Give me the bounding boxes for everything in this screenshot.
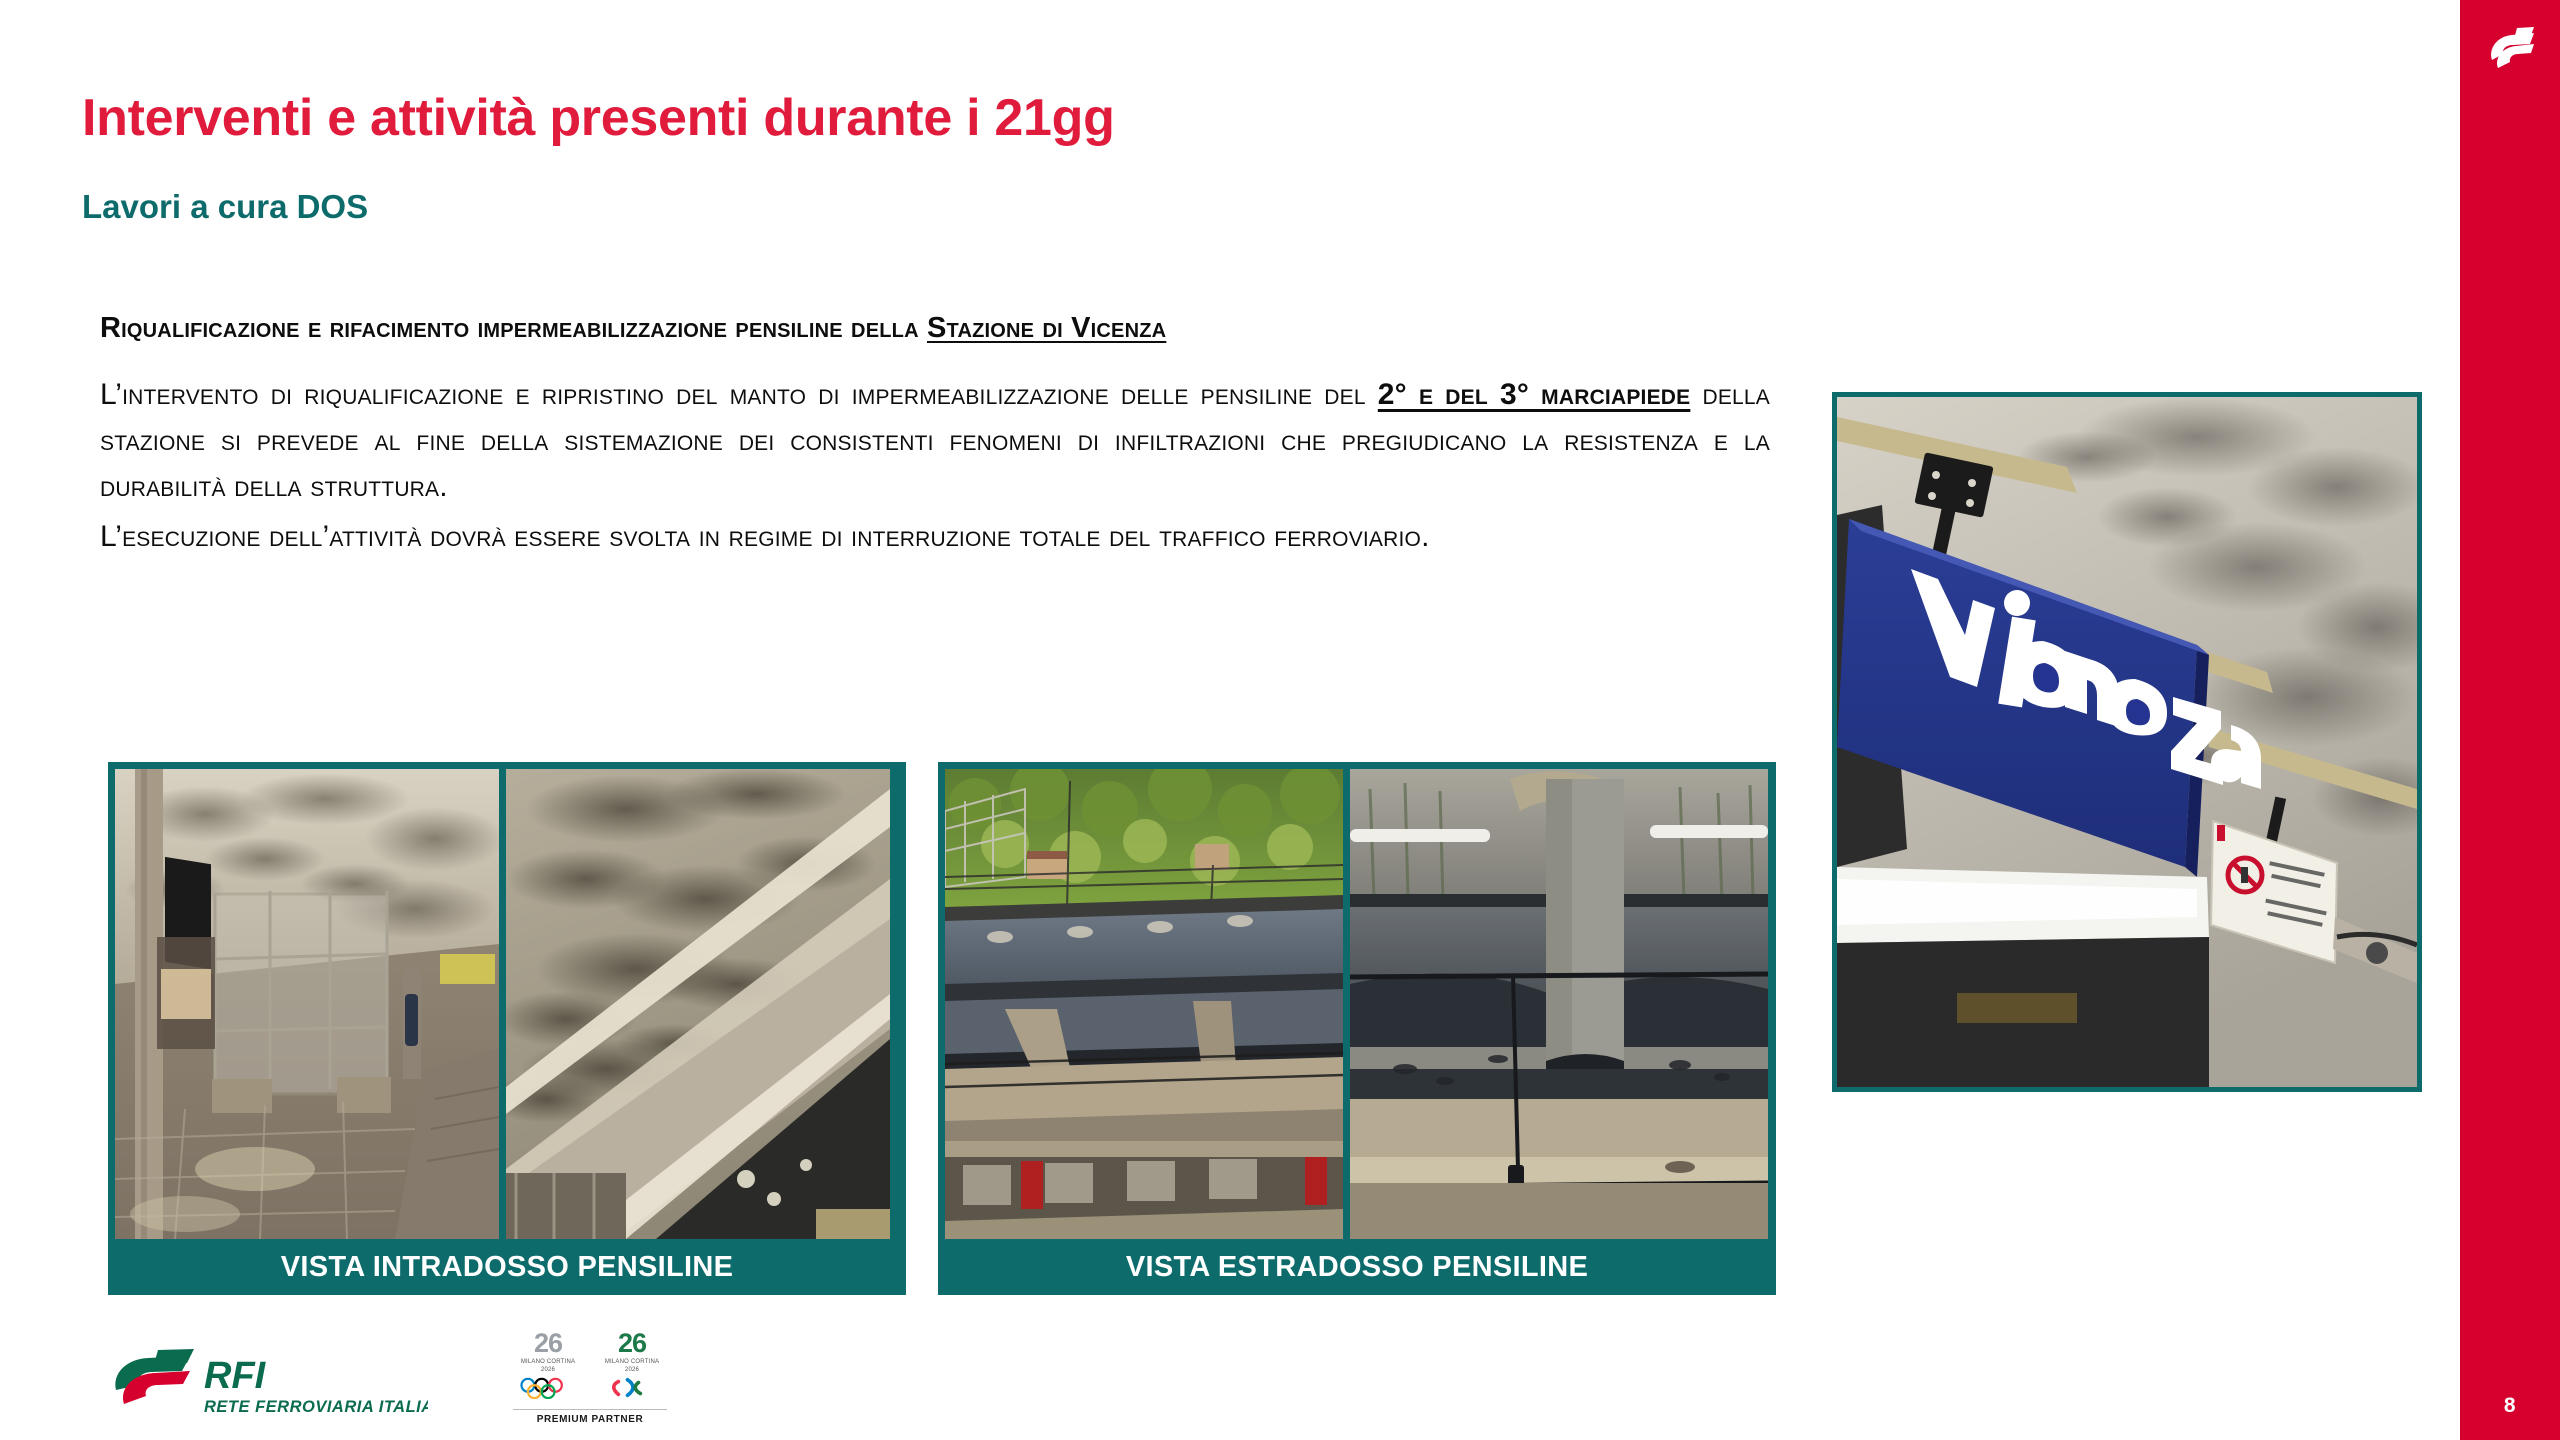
olympic-mark-block: 26 MILANO CORTINA 2026 xyxy=(514,1330,582,1404)
page-number: 8 xyxy=(2460,1394,2560,1418)
lead-heading-main: Riqualificazione e rifacimento impermeab… xyxy=(100,312,927,344)
photo-group-intradosso: VISTA INTRADOSSO PENSILINE xyxy=(108,762,906,1295)
body-text-block: Riqualificazione e rifacimento impermeab… xyxy=(100,310,1770,560)
paragraph-one-seg1: L’intervento di riqualificazione e ripri… xyxy=(100,378,1378,411)
canopy-roof-overview-photo xyxy=(945,769,1343,1239)
brand-rail: 8 xyxy=(2460,0,2560,1440)
photo-row xyxy=(115,769,899,1239)
page-title: Interventi e attività presenti durante i… xyxy=(82,88,1115,148)
caption-intradosso: VISTA INTRADOSSO PENSILINE xyxy=(115,1239,899,1295)
paragraph-two: L’esecuzione dell’attività dovrà essere … xyxy=(100,514,1770,560)
platform-glass-stairwell-photo xyxy=(115,769,499,1239)
paragraph-one: L’intervento di riqualificazione e ripri… xyxy=(100,372,1770,510)
waterproofing-column-detail-photo xyxy=(1350,769,1768,1239)
fs-logo-icon xyxy=(2478,14,2544,80)
premium-partner-label: PREMIUM PARTNER xyxy=(505,1414,675,1425)
milano-cortina-olympic-mark: 26 xyxy=(514,1330,582,1357)
lead-heading-station: Stazione di Vicenza xyxy=(927,312,1166,344)
slide-canvas: Interventi e attività presenti durante i… xyxy=(0,0,2560,1440)
canopy-underside-stains-photo xyxy=(506,769,890,1239)
photo-row xyxy=(945,769,1769,1239)
vicenza-station-sign-photo xyxy=(1832,392,2422,1092)
agitos-icon xyxy=(600,1377,664,1399)
olympic-rings-icon xyxy=(516,1377,580,1399)
photo-group-estradosso: VISTA ESTRADOSSO PENSILINE xyxy=(938,762,1776,1295)
logo-divider xyxy=(513,1409,667,1410)
paralympic-event-name: MILANO CORTINA 2026 xyxy=(598,1359,666,1374)
paragraph-one-emphasis: 2° e del 3° marciapiede xyxy=(1378,378,1691,411)
olympic-marks-row: 26 MILANO CORTINA 2026 26 xyxy=(505,1330,675,1404)
olympic-partner-logo: 26 MILANO CORTINA 2026 26 xyxy=(505,1330,675,1430)
caption-estradosso: VISTA ESTRADOSSO PENSILINE xyxy=(945,1239,1769,1295)
paralympic-mark-block: 26 MILANO CORTINA 2026 xyxy=(598,1330,666,1404)
rfi-full-name: RETE FERROVIARIA ITALIANA xyxy=(204,1398,428,1416)
olympic-event-name: MILANO CORTINA 2026 xyxy=(514,1359,582,1374)
milano-cortina-paralympic-mark: 26 xyxy=(598,1330,666,1357)
page-subtitle: Lavori a cura DOS xyxy=(82,188,368,226)
lead-heading: Riqualificazione e rifacimento impermeab… xyxy=(100,310,1770,346)
rfi-acronym: RFI xyxy=(204,1355,267,1397)
rfi-logo: RFI RETE FERROVIARIA ITALIANA xyxy=(98,1344,428,1422)
